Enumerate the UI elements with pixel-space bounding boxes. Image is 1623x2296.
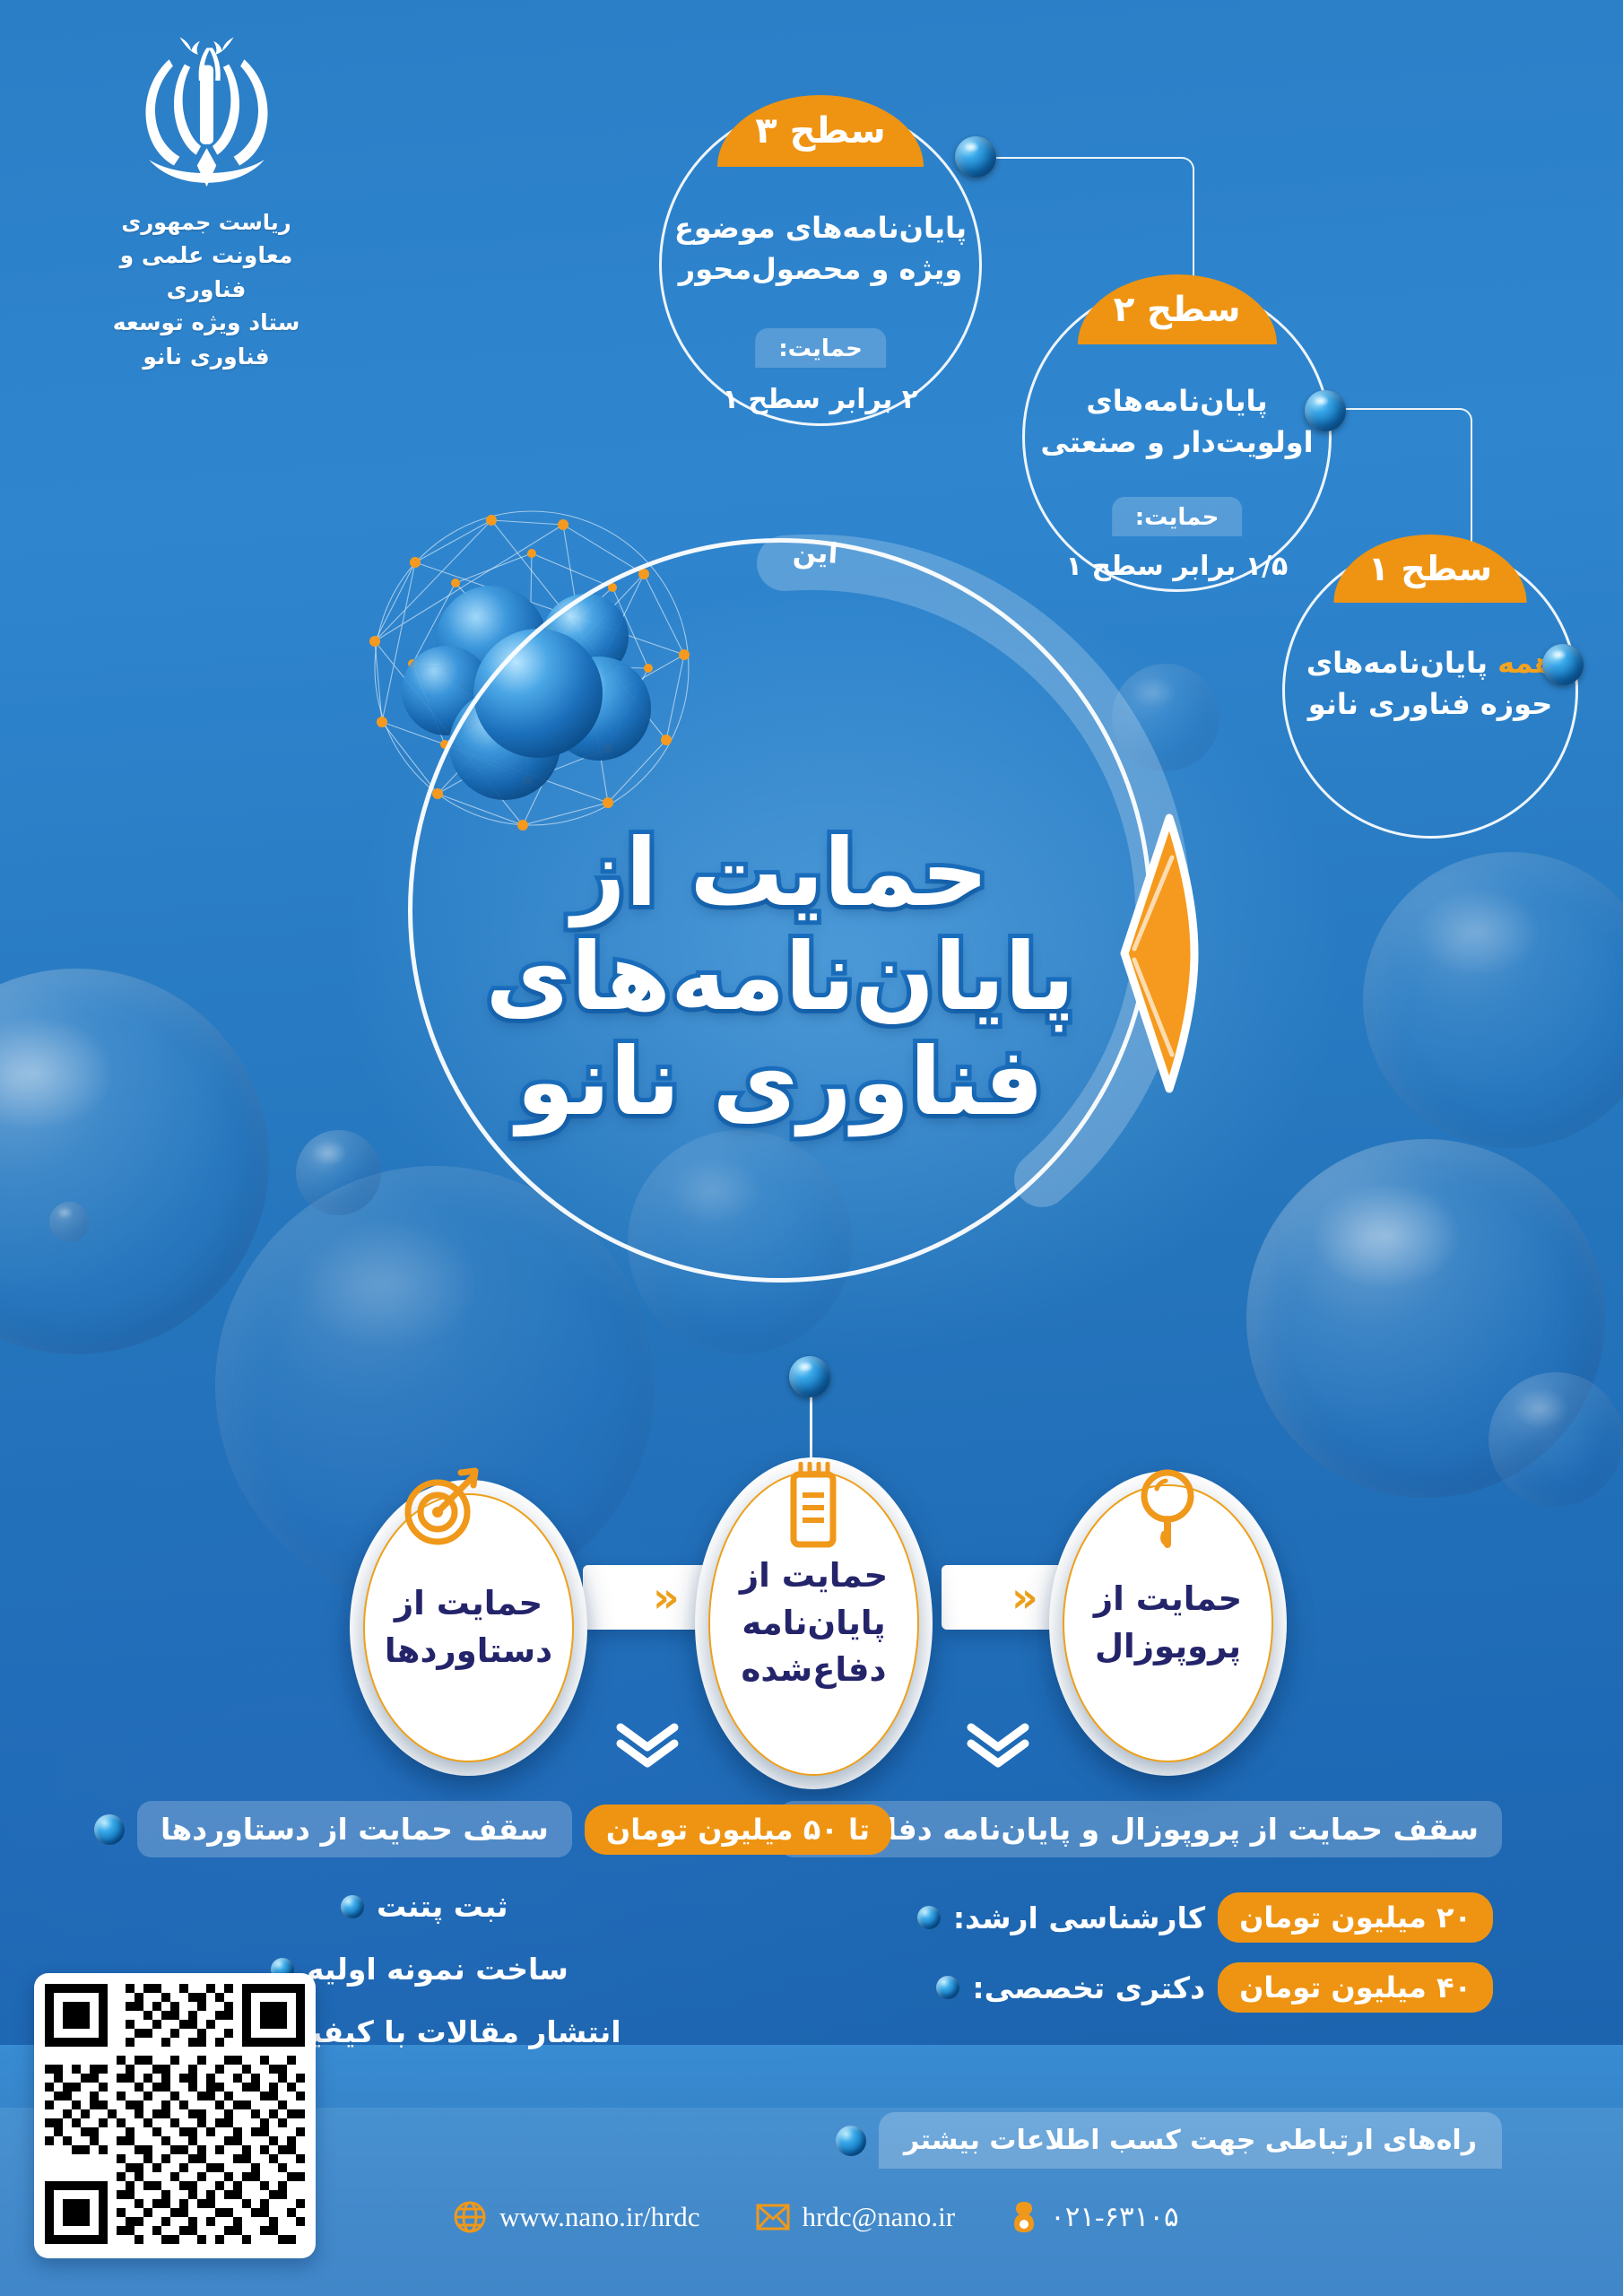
stage-defended-line2: پایان‌نامه	[742, 1604, 885, 1642]
down-double-chevron-icon-right	[964, 1720, 1032, 1769]
contact-phone[interactable]: ۰۲۱-۶۳۱۰۵	[1011, 2199, 1179, 2235]
section-right-row-1: ۲۰ میلیون تومان کارشناسی ارشد:	[917, 1892, 1493, 1943]
level-2-badge-label: سطح ۲	[1114, 290, 1241, 330]
stage-proposal-line2: پروپوزال	[1095, 1627, 1241, 1665]
footer-contacts: www.nano.ir/hrdc hrdc@nano.ir ۰۲۱-۶۳۱۰۵	[453, 2199, 1179, 2235]
page-title-line3: فناوری نانو	[466, 1030, 1094, 1134]
achievement-text-3: انتشار مقالات با کیفیت	[280, 2014, 621, 2049]
level-1-title: همه پایان‌نامه‌های حوزه فناوری نانو	[1285, 642, 1575, 726]
level-3-node-ball	[955, 136, 996, 178]
iran-emblem-icon	[110, 31, 303, 197]
page-title: حمایت از پایان‌نامه‌های فناوری نانو	[466, 821, 1094, 1134]
level-1-node-ball	[1542, 644, 1584, 685]
phone-text: ۰۲۱-۶۳۱۰۵	[1050, 2201, 1179, 2233]
stage-defended-line3: دفاع‌شده	[742, 1650, 887, 1689]
qr-code[interactable]	[34, 1973, 316, 2258]
phd-bullet-icon	[936, 1976, 959, 1999]
footer-heading-text: راه‌های ارتباطی جهت کسب اطلاعات بیشتر	[879, 2112, 1502, 2169]
masters-bullet-icon	[917, 1906, 941, 1929]
stage-proposal-label: حمایت از پروپوزال	[1094, 1576, 1242, 1670]
stage-achievements-line2: دستاوردها	[385, 1631, 552, 1670]
footer-heading-ball-icon	[836, 2126, 866, 2156]
level-1-badge-label: سطح ۱	[1368, 549, 1492, 588]
stage-proposal-line1: حمایت از	[1094, 1579, 1242, 1618]
achievement-text-1: ثبت پتنت	[377, 1889, 508, 1924]
logo-line-2: معاونت علمی و فناوری	[76, 239, 336, 306]
contact-website[interactable]: www.nano.ir/hrdc	[453, 2200, 700, 2234]
level-3-title: پایان‌نامه‌های موضوع ویژه و محصول‌محور	[662, 207, 979, 291]
section-left-item-1: ثبت پتنت	[341, 1889, 508, 1924]
masters-amount-pill: ۲۰ میلیون تومان	[1218, 1892, 1493, 1943]
qr-code-image	[45, 1984, 305, 2244]
achievement-text-2: ساخت نمونه اولیه	[307, 1952, 568, 1987]
footer-heading: راه‌های ارتباطی جهت کسب اطلاعات بیشتر	[836, 2112, 1502, 2169]
level-3-badge-label: سطح ۳	[755, 110, 885, 152]
section-left-item-2: ساخت نمونه اولیه	[271, 1952, 568, 1987]
stage-chevron-left-icon: «	[653, 1577, 680, 1618]
phd-amount-pill: ۴۰ میلیون تومان	[1218, 1962, 1493, 2013]
level-3-support-value: ۲ برابر سطح ۱	[662, 384, 979, 415]
level-2-title-line1: پایان‌نامه‌های	[1086, 384, 1267, 418]
logo-line-3: ستاد ویژه توسعه فناوری نانو	[76, 306, 336, 373]
page-title-line2: پایان‌نامه‌های	[466, 925, 1094, 1029]
level-circle-1[interactable]: سطح ۱ همه پایان‌نامه‌های حوزه فناوری نان…	[1282, 543, 1578, 839]
section-left-heading-ball-icon	[94, 1814, 125, 1845]
level-3-title-line1: پایان‌نامه‌های موضوع	[674, 211, 967, 245]
clipboard-icon	[781, 1462, 846, 1552]
level-2-title: پایان‌نامه‌های اولویت‌دار و صنعتی	[1025, 380, 1329, 464]
level-3-title-line2: ویژه و محصول‌محور	[679, 252, 962, 286]
poster-root: ریاست جمهوری معاونت علمی و فناوری ستاد و…	[0, 0, 1623, 2296]
section-right-row-2: ۴۰ میلیون تومان دکتری تخصصی:	[936, 1962, 1493, 2013]
globe-icon	[453, 2200, 487, 2234]
stage-achievements-label: حمایت از دستاوردها	[385, 1580, 552, 1674]
logo-line-1: ریاست جمهوری	[76, 206, 336, 239]
level-3-support-label: حمایت:	[778, 335, 863, 362]
circle-bottom-node-ball	[789, 1356, 830, 1397]
circle-chevron-marker-icon	[1105, 805, 1212, 1101]
target-icon	[396, 1464, 486, 1553]
masters-label: کارشناسی ارشد:	[953, 1900, 1205, 1935]
envelope-icon	[756, 2204, 790, 2231]
section-left-heading: سقف حمایت از دستاوردها تا ۵۰ میلیون توما…	[94, 1801, 891, 1857]
contact-email[interactable]: hrdc@nano.ir	[756, 2201, 956, 2233]
website-text: www.nano.ir/hrdc	[499, 2201, 700, 2233]
magnifier-icon	[1126, 1462, 1209, 1552]
level-2-title-line2: اولویت‌دار و صنعتی	[1040, 425, 1313, 459]
stage-defended-thesis-label: حمایت از پایان‌نامه دفاع‌شده	[740, 1552, 888, 1694]
phd-label: دکتری تخصصی:	[972, 1970, 1205, 2005]
level-1-title-line1: پایان‌نامه‌های	[1306, 646, 1488, 680]
level-circle-3[interactable]: سطح ۳ پایان‌نامه‌های موضوع ویژه و محصول‌…	[659, 103, 982, 426]
page-title-line1: حمایت از	[466, 821, 1094, 925]
level-3-support-box: حمایت:	[755, 328, 886, 368]
down-double-chevron-icon-left	[613, 1720, 681, 1769]
telephone-icon	[1011, 2199, 1037, 2235]
stage-defended-line1: حمایت از	[740, 1556, 888, 1595]
level-1-title-line2: حوزه فناوری نانو	[1308, 687, 1553, 721]
level-2-node-ball	[1305, 390, 1346, 431]
organization-logo: ریاست جمهوری معاونت علمی و فناوری ستاد و…	[76, 31, 336, 373]
achievements-amount-pill: تا ۵۰ میلیون تومان	[585, 1805, 891, 1855]
email-text: hrdc@nano.ir	[803, 2201, 956, 2233]
section-left-heading-text: سقف حمایت از دستاوردها	[137, 1801, 572, 1857]
stage-achievements-line1: حمایت از	[395, 1584, 542, 1622]
stage-chevron-right-icon: «	[1011, 1577, 1038, 1618]
achievement-bullet-icon-1	[341, 1895, 364, 1918]
